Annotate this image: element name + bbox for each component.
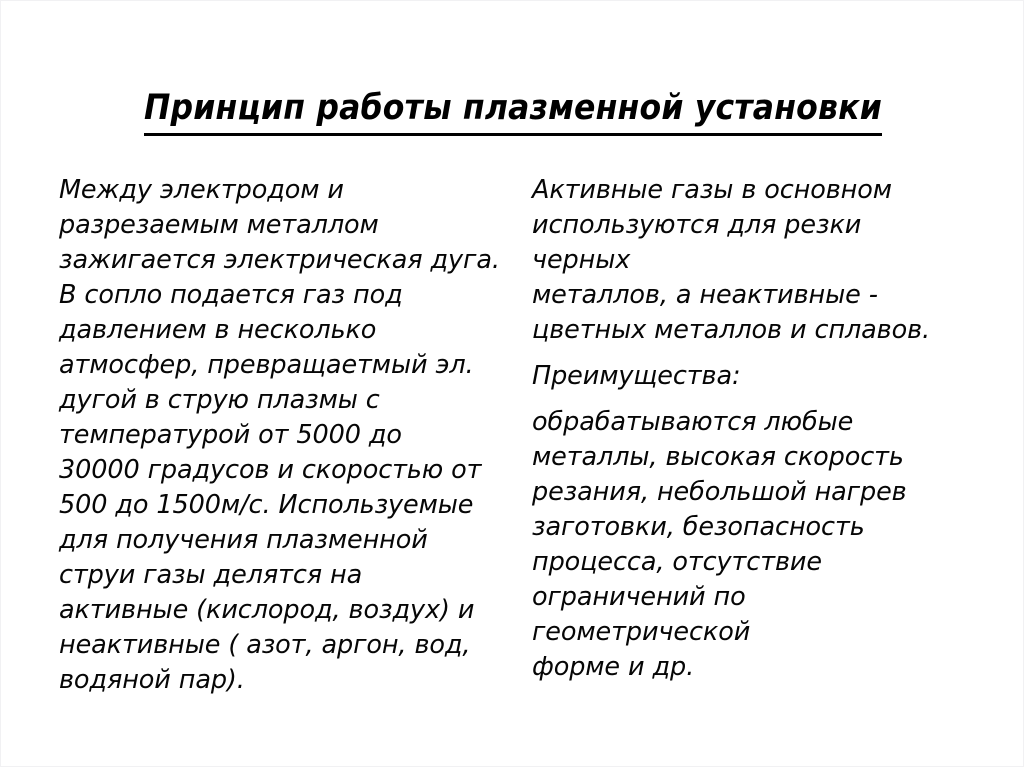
right-column-paragraph-3: обрабатываются любые металлы, высокая ск…	[532, 405, 962, 685]
right-column-paragraph-2: Преимущества:	[532, 359, 962, 394]
left-text-column: Между электродом и разрезаемым металлом …	[59, 173, 511, 698]
slide-title-container: Принцип работы плазменной установки	[1, 65, 1024, 159]
page-title: Принцип работы плазменной установки	[144, 88, 882, 135]
content-columns: Между электродом и разрезаемым металлом …	[1, 173, 1024, 693]
left-column-paragraph-1: Между электродом и разрезаемым металлом …	[59, 173, 511, 698]
slide-canvas: Принцип работы плазменной установки Межд…	[0, 0, 1024, 767]
right-column-paragraph-1: Активные газы в основном используются дл…	[532, 173, 962, 348]
right-text-column: Активные газы в основном используются дл…	[532, 173, 962, 685]
